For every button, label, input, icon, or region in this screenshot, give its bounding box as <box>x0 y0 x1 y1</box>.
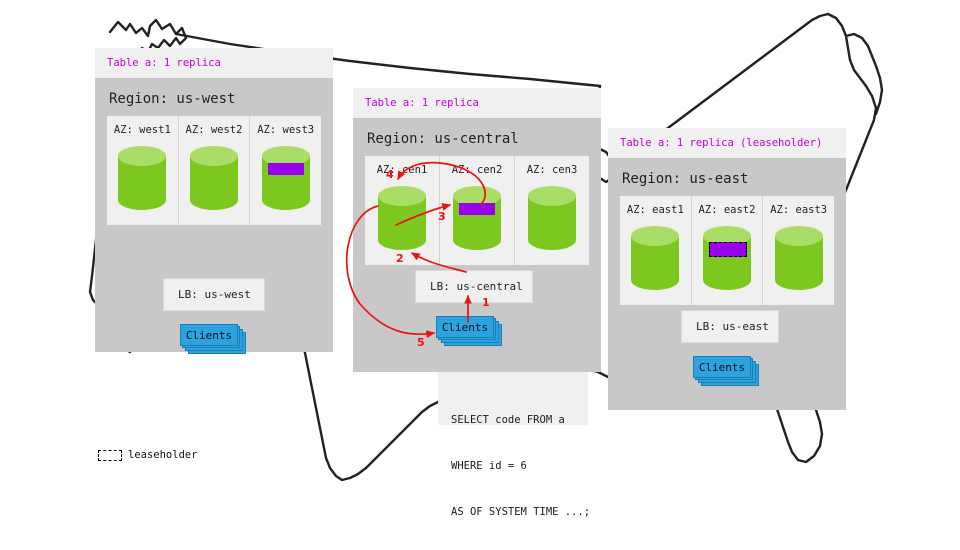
db-node-west2[interactable] <box>189 145 239 211</box>
az-cell-east3[interactable]: AZ: east3 <box>762 196 834 306</box>
replica-block-cen2 <box>459 203 495 215</box>
replica-block-west3 <box>268 163 304 175</box>
az-cell-cen2[interactable]: AZ: cen2 <box>439 156 514 266</box>
az-label-west3: AZ: west3 <box>250 125 321 136</box>
legend-leaseholder: leaseholder <box>98 450 198 461</box>
db-node-cen1[interactable] <box>377 185 427 251</box>
clients-us-central[interactable]: Clients <box>436 316 502 348</box>
clients-us-east[interactable]: Clients <box>693 356 759 388</box>
cylinder-icon <box>774 225 824 291</box>
az-label-west1: AZ: west1 <box>107 125 178 136</box>
step-label-3: 3 <box>438 211 446 222</box>
az-label-east3: AZ: east3 <box>763 205 834 216</box>
cylinder-icon <box>189 145 239 211</box>
db-node-cen3[interactable] <box>527 185 577 251</box>
load-balancer-us-west[interactable]: LB: us-west <box>163 278 265 311</box>
region-title-us-west: Region: us-west <box>95 78 333 116</box>
cylinder-icon <box>702 225 752 291</box>
az-label-west2: AZ: west2 <box>179 125 250 136</box>
az-label-east2: AZ: east2 <box>692 205 763 216</box>
az-cell-cen1[interactable]: AZ: cen1 <box>365 156 439 266</box>
region-panel-us-central: Table a: 1 replica Region: us-central AZ… <box>353 88 601 372</box>
db-node-east3[interactable] <box>774 225 824 291</box>
sql-query-note: SELECT code FROM a WHERE id = 6 AS OF SY… <box>438 372 588 425</box>
region-panel-us-west: Table a: 1 replica Region: us-west AZ: w… <box>95 48 333 352</box>
legend-label: leaseholder <box>128 450 198 461</box>
load-balancer-us-central[interactable]: LB: us-central <box>415 270 533 303</box>
az-cell-west1[interactable]: AZ: west1 <box>107 116 178 226</box>
az-label-east1: AZ: east1 <box>620 205 691 216</box>
az-label-cen3: AZ: cen3 <box>515 165 589 176</box>
load-balancer-us-east[interactable]: LB: us-east <box>681 310 779 343</box>
cylinder-icon <box>452 185 502 251</box>
db-node-east2[interactable] <box>702 225 752 291</box>
db-node-west3[interactable] <box>261 145 311 211</box>
replica-block-east2-leaseholder <box>709 242 747 257</box>
az-row-us-west: AZ: west1 AZ: west2 AZ: <box>107 116 321 226</box>
region-title-us-east: Region: us-east <box>608 158 846 196</box>
step-label-2: 2 <box>396 253 404 264</box>
sql-line-3: AS OF SYSTEM TIME ...; <box>451 505 575 520</box>
cylinder-icon <box>117 145 167 211</box>
leaseholder-swatch-icon <box>98 450 122 461</box>
az-cell-west3[interactable]: AZ: west3 <box>249 116 321 226</box>
az-cell-cen3[interactable]: AZ: cen3 <box>514 156 589 266</box>
az-label-cen1: AZ: cen1 <box>365 165 439 176</box>
clients-us-west[interactable]: Clients <box>180 324 246 356</box>
cylinder-icon <box>527 185 577 251</box>
cylinder-icon <box>630 225 680 291</box>
sql-line-2: WHERE id = 6 <box>451 459 575 474</box>
az-label-cen2: AZ: cen2 <box>440 165 514 176</box>
step-label-4: 4 <box>386 169 394 180</box>
clients-label-us-central[interactable]: Clients <box>436 316 494 338</box>
az-cell-east2[interactable]: AZ: east2 <box>691 196 763 306</box>
clients-label-us-east[interactable]: Clients <box>693 356 751 378</box>
db-node-east1[interactable] <box>630 225 680 291</box>
replica-banner-us-east: Table a: 1 replica (leaseholder) <box>608 128 846 158</box>
diagram-canvas: Table a: 1 replica Region: us-west AZ: w… <box>0 0 960 540</box>
region-title-us-central: Region: us-central <box>353 118 601 156</box>
step-label-5: 5 <box>417 337 425 348</box>
clients-label-us-west[interactable]: Clients <box>180 324 238 346</box>
az-cell-east1[interactable]: AZ: east1 <box>620 196 691 306</box>
step-label-1: 1 <box>482 297 490 308</box>
cylinder-icon <box>377 185 427 251</box>
az-row-us-central: AZ: cen1 AZ: cen2 <box>365 156 589 266</box>
region-panel-us-east: Table a: 1 replica (leaseholder) Region:… <box>608 128 846 410</box>
db-node-cen2[interactable] <box>452 185 502 251</box>
sql-line-1: SELECT code FROM a <box>451 413 575 428</box>
db-node-west1[interactable] <box>117 145 167 211</box>
az-cell-west2[interactable]: AZ: west2 <box>178 116 250 226</box>
az-row-us-east: AZ: east1 AZ: east2 <box>620 196 834 306</box>
replica-banner-us-central: Table a: 1 replica <box>353 88 601 118</box>
replica-banner-us-west: Table a: 1 replica <box>95 48 333 78</box>
cylinder-icon <box>261 145 311 211</box>
